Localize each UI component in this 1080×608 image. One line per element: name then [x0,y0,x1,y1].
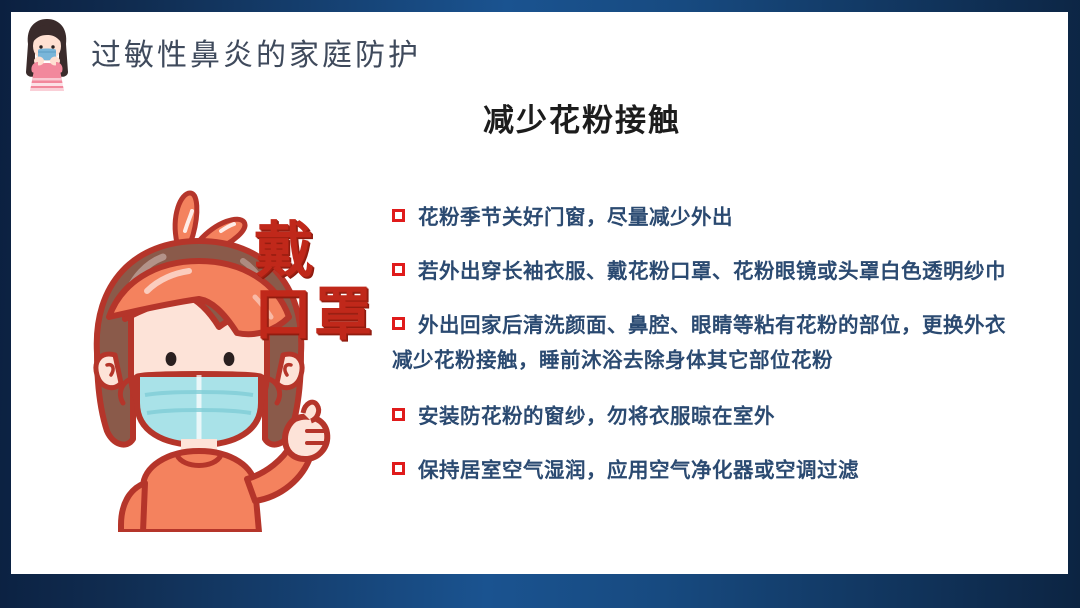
hollow-square-bullet-icon [392,462,405,475]
hollow-square-bullet-icon [392,317,405,330]
list-item: 安装防花粉的窗纱，勿将衣服晾在室外 [392,399,1054,434]
list-item: 保持居室空气湿润，应用空气净化器或空调过滤 [392,453,1054,488]
mask-caption-line-1: 戴 [254,220,379,282]
hollow-square-bullet-icon [392,209,405,222]
page-title: 过敏性鼻炎的家庭防护 [91,30,421,74]
hollow-square-bullet-icon [392,263,405,276]
list-item: 花粉季节关好门窗，尽量减少外出 [392,200,1054,235]
mask-caption: 戴 口罩 [254,220,379,355]
slide-header: 过敏性鼻炎的家庭防护 [11,12,1068,94]
list-item-text: 花粉季节关好门窗，尽量减少外出 [418,200,733,235]
slide-root: 过敏性鼻炎的家庭防护 减少花粉接触 [0,0,1080,608]
mask-caption-line-2: 口罩 [254,282,379,348]
list-item: 外出回家后清洗颜面、鼻腔、眼睛等粘有花粉的部位，更换外衣 减少花粉接触，睡前沐浴… [392,308,1054,378]
girl-with-tissue-avatar-icon [14,14,80,94]
section-heading: 减少花粉接触 [11,95,1068,140]
list-item-text: 安装防花粉的窗纱，勿将衣服晾在室外 [418,399,775,434]
list-item-text-line-1: 外出回家后清洗颜面、鼻腔、眼睛等粘有花粉的部位，更换外衣 [418,308,1006,343]
hollow-square-bullet-icon [392,408,405,421]
list-item-text-block: 外出回家后清洗颜面、鼻腔、眼睛等粘有花粉的部位，更换外衣 减少花粉接触，睡前沐浴… [418,308,1006,378]
list-item-text: 保持居室空气湿润，应用空气净化器或空调过滤 [418,453,859,488]
bullet-list: 花粉季节关好门窗，尽量减少外出 若外出穿长袖衣服、戴花粉口罩、花粉眼镜或头罩白色… [392,200,1054,488]
list-item-text-line-2: 减少花粉接触，睡前沐浴去除身体其它部位花粉 [392,343,1006,378]
list-item: 若外出穿长袖衣服、戴花粉口罩、花粉眼镜或头罩白色透明纱巾 [392,254,1054,289]
list-item-text: 若外出穿长袖衣服、戴花粉口罩、花粉眼镜或头罩白色透明纱巾 [418,254,1006,289]
slide-content-card: 过敏性鼻炎的家庭防护 减少花粉接触 [11,12,1068,574]
